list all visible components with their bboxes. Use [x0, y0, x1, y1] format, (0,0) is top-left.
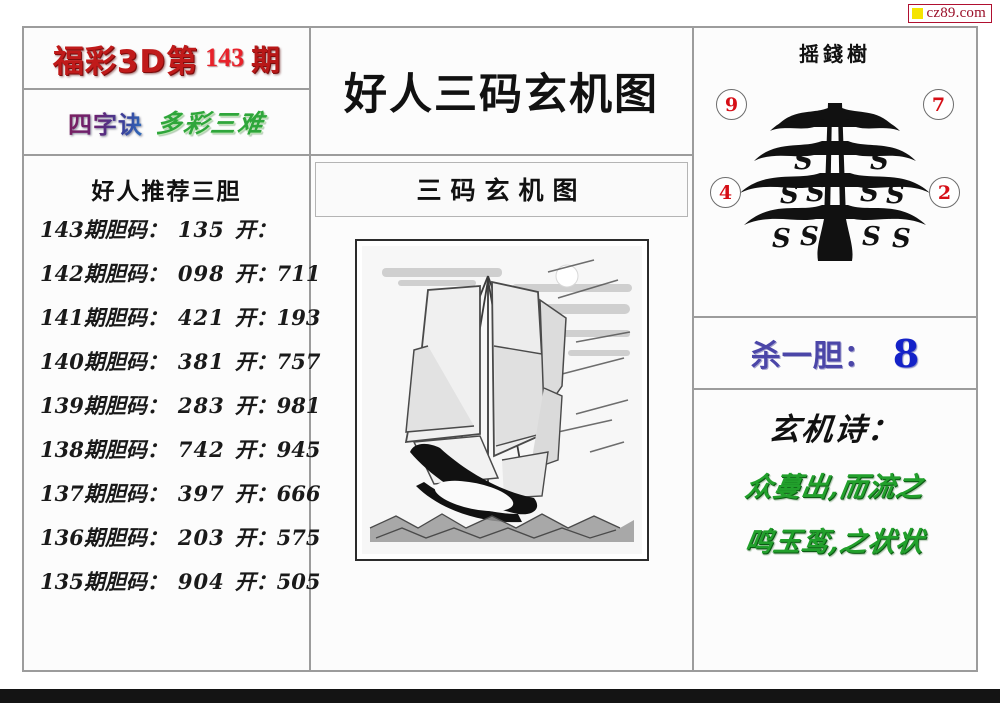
poster-frame: 福彩3D第 143 期 四字诀 多彩三难 好人推荐三胆 143期胆码： 135 …: [22, 26, 978, 672]
poem-panel: 玄机诗： 众蔓出,而流之 鸣玉鸾,之状状: [694, 390, 976, 670]
list-item: 138期胆码： 742 开：945: [40, 434, 297, 464]
list-item: 135期胆码： 904 开：505: [40, 566, 297, 596]
row-dan-value: 397: [178, 481, 225, 506]
center-subtitle: 三码玄机图: [315, 162, 688, 217]
list-item: 142期胆码： 098 开：711: [40, 258, 297, 288]
row-kai-value: 开：575: [235, 522, 321, 552]
center-column: 好人三码玄机图 三码玄机图: [311, 28, 692, 670]
recommendation-heading: 好人推荐三胆: [24, 156, 309, 212]
left-column: 福彩3D第 143 期 四字诀 多彩三难 好人推荐三胆 143期胆码： 135 …: [24, 28, 311, 670]
row-kai-value: 开：: [235, 214, 277, 244]
list-item: 137期胆码： 397 开：666: [40, 478, 297, 508]
row-issue-label: 136期胆码：: [40, 522, 168, 552]
row-issue-label: 140期胆码：: [40, 346, 168, 376]
row-dan-value: 381: [178, 349, 225, 374]
kill-one-value: 8: [893, 331, 919, 376]
row-kai-value: 开：666: [235, 478, 321, 508]
row-issue-label: 139期胆码：: [40, 390, 168, 420]
row-kai-value: 开：711: [235, 258, 321, 288]
issue-suffix: 期: [251, 37, 280, 79]
list-item: 139期胆码： 283 开：981: [40, 390, 297, 420]
kill-one-label: 杀一胆：: [751, 331, 875, 375]
row-issue-label: 137期胆码：: [40, 478, 168, 508]
row-dan-value: 203: [178, 525, 225, 550]
tree-number-9: 9: [716, 89, 747, 120]
yellow-square-icon: [912, 8, 923, 19]
center-body: 三码玄机图: [311, 156, 692, 670]
tree-number-2: 2: [929, 177, 960, 208]
lottery-name: 福彩3D第: [53, 36, 198, 81]
row-issue-label: 141期胆码：: [40, 302, 168, 332]
row-kai-value: 开：981: [235, 390, 321, 420]
right-column: 摇錢樹: [692, 28, 976, 670]
kill-one-row: 杀一胆： 8: [694, 318, 976, 390]
row-issue-label: 135期胆码：: [40, 566, 168, 596]
money-tree-title: 摇錢樹: [799, 38, 871, 67]
four-character-row: 四字诀 多彩三难: [24, 90, 309, 156]
svg-text:S: S: [780, 180, 799, 210]
money-tree-panel: 摇錢樹: [694, 28, 976, 318]
svg-text:S: S: [862, 222, 881, 252]
svg-text:S: S: [794, 146, 813, 176]
svg-text:S: S: [806, 178, 825, 208]
row-issue-label: 143期胆码：: [40, 214, 168, 244]
svg-text:S: S: [892, 224, 911, 254]
illustration-frame: [355, 239, 649, 561]
row-issue-label: 138期胆码：: [40, 434, 168, 464]
poem-line: 众蔓出,而流之: [743, 465, 928, 504]
svg-text:S: S: [886, 180, 905, 210]
row-dan-value: 135: [178, 217, 225, 242]
poem-line: 鸣玉鸾,之状状: [743, 520, 928, 559]
row-issue-label: 142期胆码：: [40, 258, 168, 288]
svg-text:S: S: [800, 222, 819, 252]
bottom-strip: [0, 689, 1000, 703]
watermark-badge: cz89.com: [908, 4, 993, 23]
row-dan-value: 904: [178, 569, 225, 594]
four-character-badge: 四字诀: [68, 105, 143, 140]
tree-number-4: 4: [710, 177, 741, 208]
four-character-phrase: 多彩三难: [154, 104, 267, 140]
row-dan-value: 283: [178, 393, 225, 418]
lottery-title-bar: 福彩3D第 143 期: [24, 28, 309, 90]
row-dan-value: 098: [178, 261, 225, 286]
issue-number: 143: [205, 43, 244, 73]
row-kai-value: 开：193: [235, 302, 321, 332]
row-kai-value: 开：945: [235, 434, 321, 464]
recommendation-list: 143期胆码： 135 开： 142期胆码： 098 开：711 141期胆码：…: [24, 212, 309, 670]
row-dan-value: 742: [178, 437, 225, 462]
row-dan-value: 421: [178, 305, 225, 330]
svg-text:S: S: [860, 178, 879, 208]
row-kai-value: 开：757: [235, 346, 321, 376]
list-item: 141期胆码： 421 开：193: [40, 302, 297, 332]
list-item: 143期胆码： 135 开：: [40, 214, 297, 244]
list-item: 136期胆码： 203 开：575: [40, 522, 297, 552]
page-title: 好人三码玄机图: [311, 28, 692, 156]
svg-text:S: S: [772, 224, 791, 254]
illustration-canvas: [362, 246, 642, 554]
tree-number-7: 7: [923, 89, 954, 120]
row-kai-value: 开：505: [235, 566, 321, 596]
money-tree-stage: S S S S S S S S S S 9 7 4 2: [710, 69, 960, 294]
list-item: 140期胆码： 381 开：757: [40, 346, 297, 376]
sailing-ship-sketch-icon: [362, 246, 642, 554]
watermark-text: cz89.com: [927, 6, 987, 21]
poem-heading: 玄机诗：: [767, 404, 904, 449]
svg-text:S: S: [870, 146, 889, 176]
